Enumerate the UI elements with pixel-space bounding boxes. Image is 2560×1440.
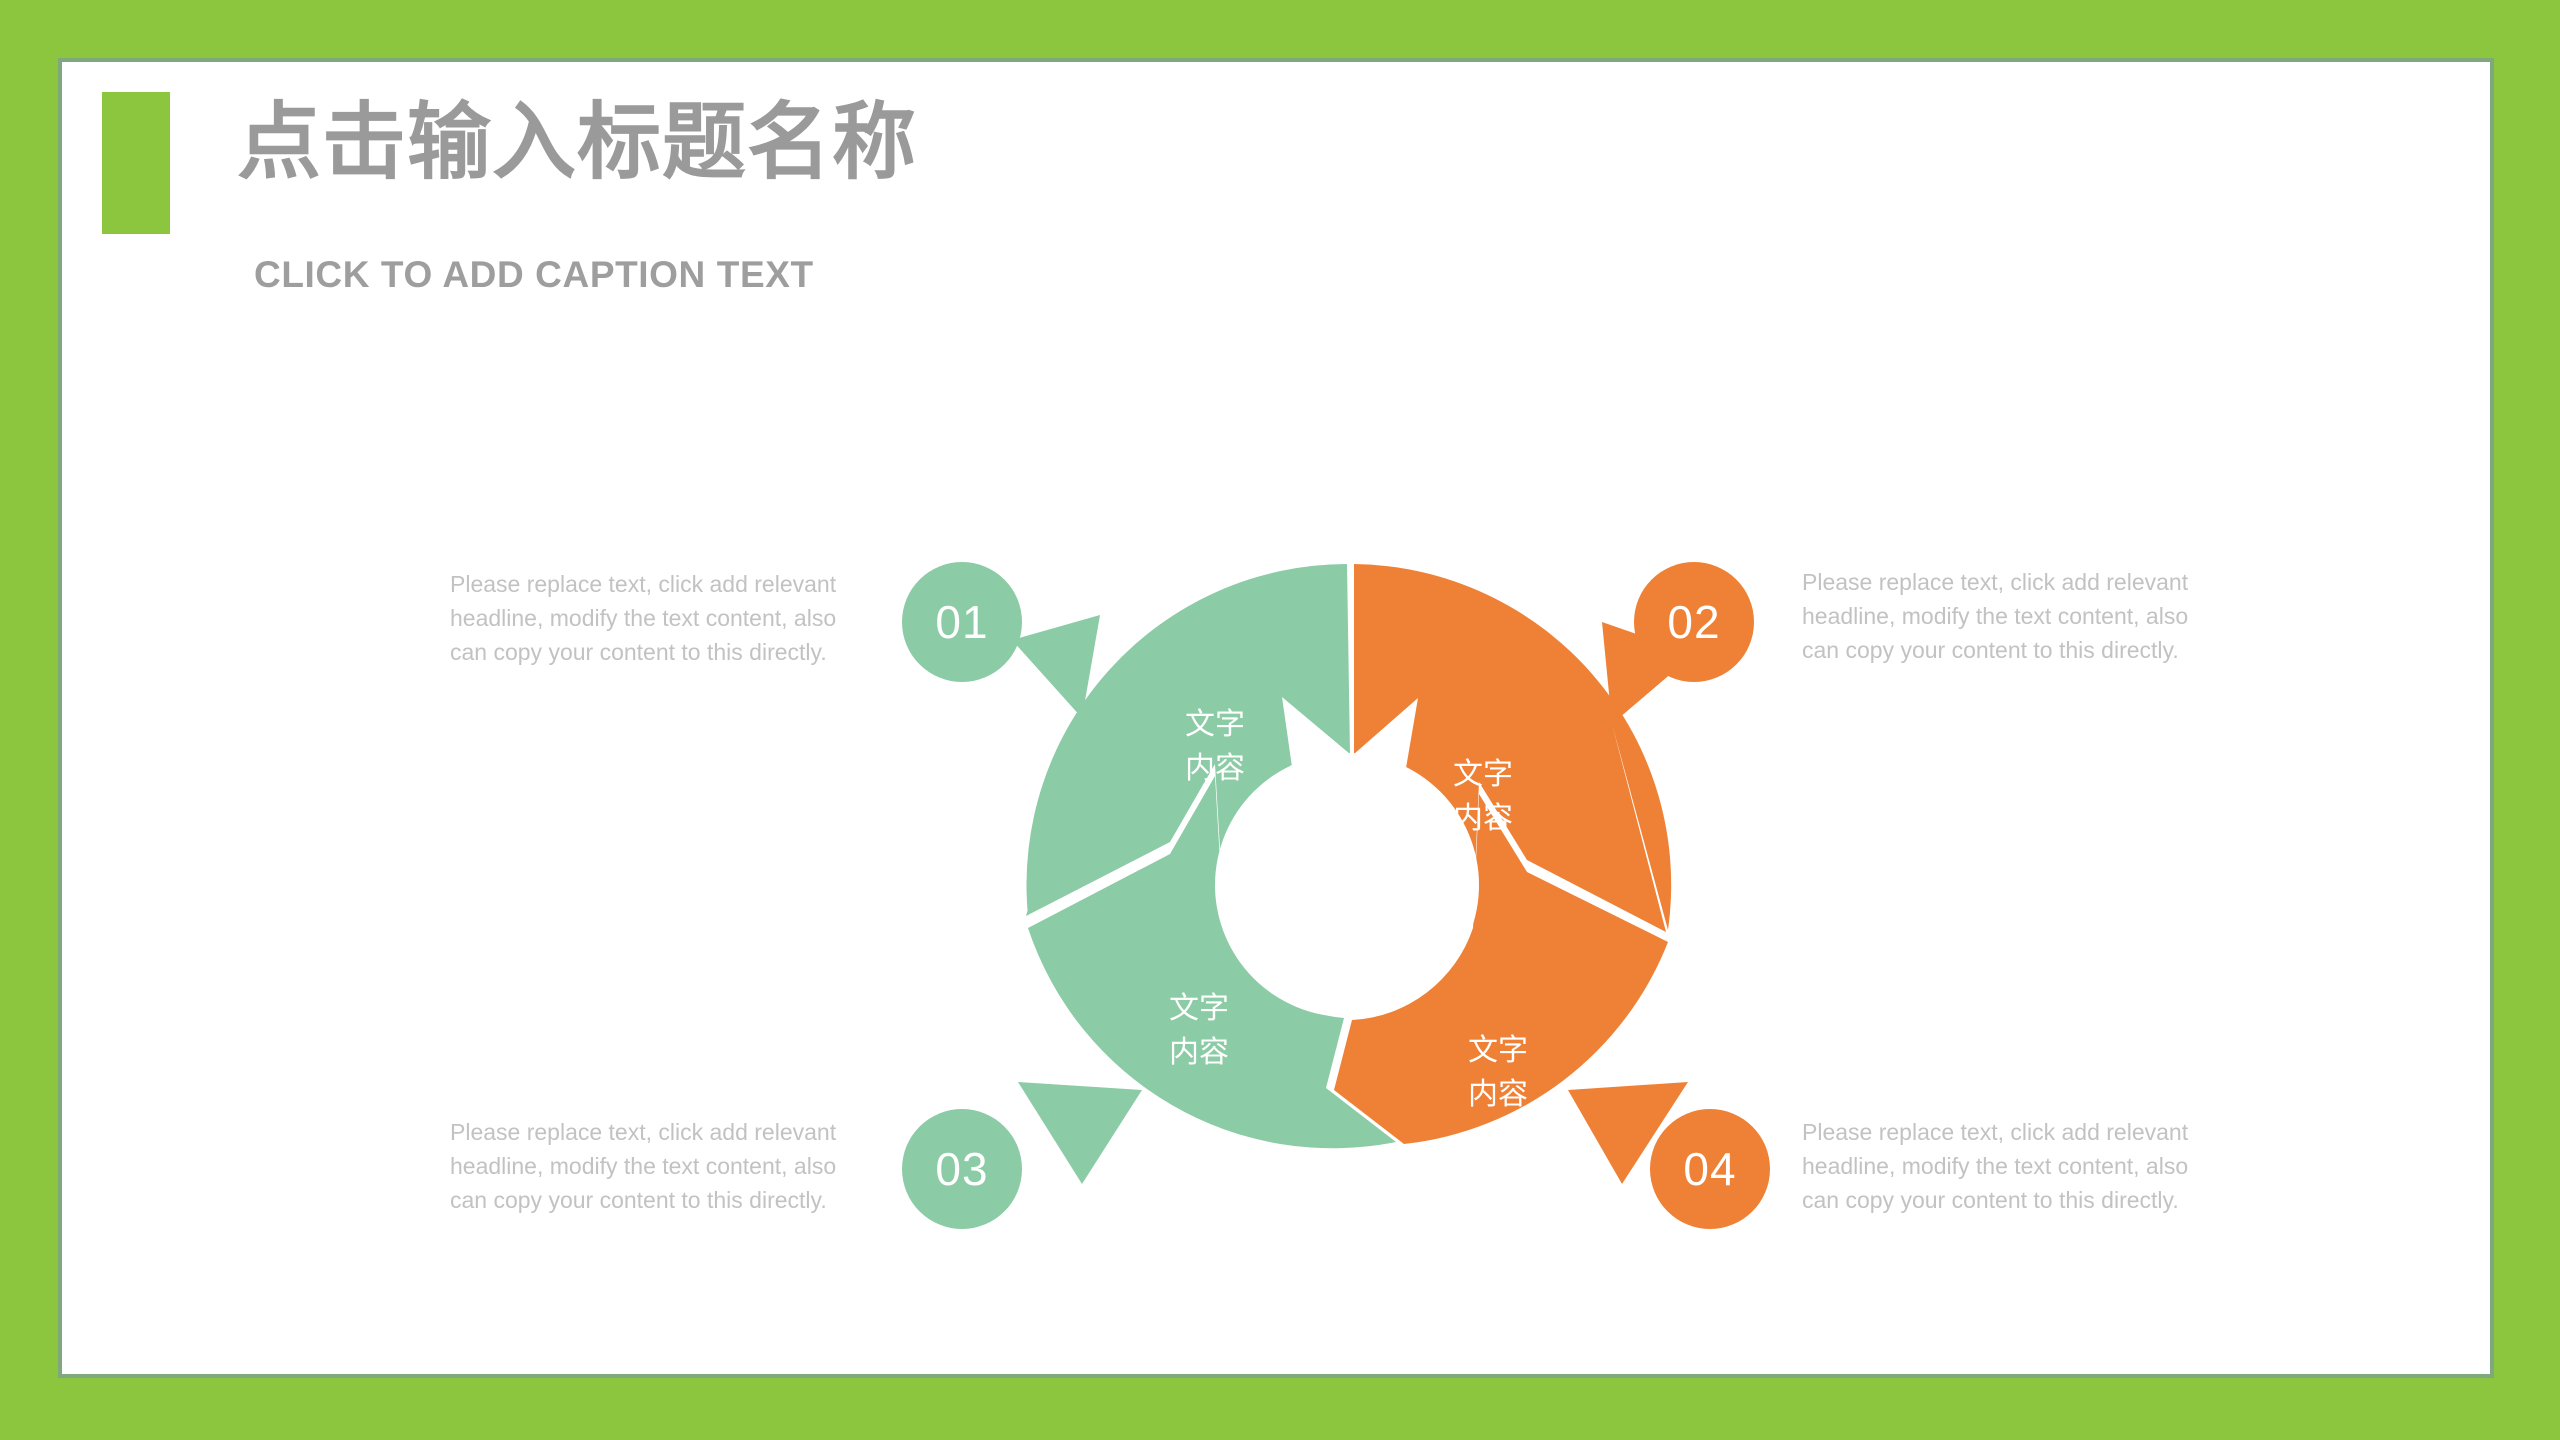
description-02[interactable]: Please replace text, click add relevant … — [1802, 565, 2202, 667]
segment-label-02-line2: 内容 — [1453, 801, 1513, 836]
slide-card: 点击输入标题名称 CLICK TO ADD CAPTION TEXT Pleas… — [58, 58, 2494, 1378]
cycle-donut-diagram: 文字 内容 文字 内容 文字 内容 文字 内容 — [982, 512, 1722, 1272]
segment-label-03-line1: 文字 — [1169, 991, 1229, 1026]
badge-01[interactable]: 01 — [902, 562, 1022, 682]
segment-label-03-line2: 内容 — [1169, 1035, 1229, 1070]
badge-02-label: 02 — [1667, 595, 1720, 649]
slide-canvas: 点击输入标题名称 CLICK TO ADD CAPTION TEXT Pleas… — [0, 0, 2560, 1440]
segment-label-01-line1: 文字 — [1185, 707, 1245, 742]
donut-center-hole — [1215, 753, 1479, 1017]
badge-04[interactable]: 04 — [1650, 1109, 1770, 1229]
badge-02[interactable]: 02 — [1634, 562, 1754, 682]
description-01[interactable]: Please replace text, click add relevant … — [450, 567, 850, 669]
segment-label-02-line1: 文字 — [1453, 757, 1513, 792]
page-caption[interactable]: CLICK TO ADD CAPTION TEXT — [254, 254, 814, 296]
slide-header: 点击输入标题名称 CLICK TO ADD CAPTION TEXT — [82, 62, 2482, 262]
donut-svg: 文字 内容 文字 内容 文字 内容 文字 内容 — [982, 512, 1722, 1272]
badge-03[interactable]: 03 — [902, 1109, 1022, 1229]
title-accent-bar — [102, 92, 170, 234]
segment-label-04-line2: 内容 — [1468, 1077, 1528, 1112]
page-title[interactable]: 点击输入标题名称 — [237, 100, 917, 184]
badge-03-label: 03 — [935, 1142, 988, 1196]
arrow-marker-03 — [1018, 1082, 1142, 1184]
badge-01-label: 01 — [935, 595, 988, 649]
segment-label-04-line1: 文字 — [1468, 1033, 1528, 1068]
segment-label-01-line2: 内容 — [1185, 751, 1245, 786]
description-04[interactable]: Please replace text, click add relevant … — [1802, 1115, 2202, 1217]
description-03[interactable]: Please replace text, click add relevant … — [450, 1115, 850, 1217]
badge-04-label: 04 — [1683, 1142, 1736, 1196]
